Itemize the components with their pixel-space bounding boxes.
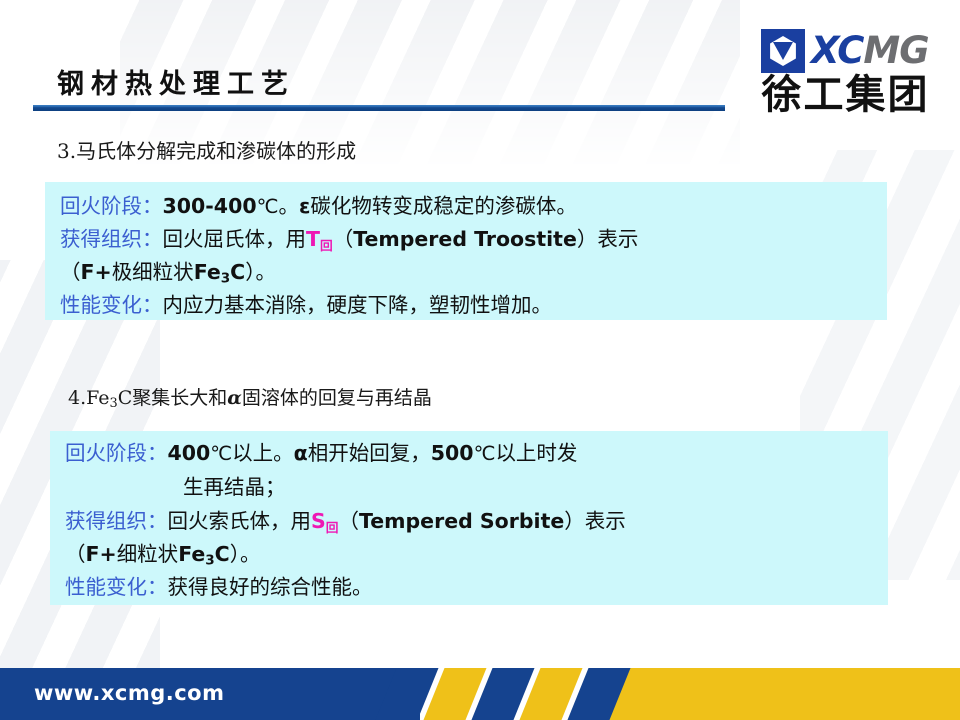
box2-paren-open: （ <box>338 509 359 533</box>
box1-line2-tail: 表示 <box>597 227 638 251</box>
box1-label-property: 性能变化： <box>60 293 163 317</box>
box1-comp-paren-open: （ <box>60 260 81 284</box>
section-3-text: 马氏体分解完成和渗碳体的形成 <box>76 139 356 163</box>
section-4-fe: Fe <box>86 387 109 409</box>
section-4-tail: 固溶体的回复与再结晶 <box>242 387 432 409</box>
box2-temp-unit-2: ℃ <box>474 442 496 465</box>
box2-comp-mid: 细粒状 <box>117 542 179 566</box>
box2-line-property-change: 性能变化：获得良好的综合性能。 <box>65 577 373 598</box>
section-4-alpha: α <box>227 387 242 409</box>
box2-english-term: Tempered Sorbite <box>359 509 564 533</box>
box1-line-obtained-structure: 获得组织：回火屈氏体，用T回（Tempered Troostite）表示 <box>60 229 638 256</box>
page-title: 钢材热处理工艺 <box>57 62 295 101</box>
box1-label-structure: 获得组织： <box>60 227 163 251</box>
box2-line1-text2: 相开始回复， <box>308 441 431 465</box>
content-box-stage-4: 回火阶段：400℃以上。α相开始回复，500℃以上时发 生再结晶； 获得组织：回… <box>50 431 888 605</box>
xcmg-hexagon-mark-icon <box>761 29 805 73</box>
box2-paren-close: ） <box>564 509 585 533</box>
box2-line-composition: （F+细粒状Fe3C）。 <box>65 544 260 571</box>
box2-line1-text1: 以上。 <box>232 441 294 465</box>
box2-line-tempering-stage: 回火阶段：400℃以上。α相开始回复，500℃以上时发 <box>65 443 577 465</box>
box2-property-text: 获得良好的综合性能。 <box>168 575 373 599</box>
box1-epsilon-symbol: ε <box>299 194 310 218</box>
logo-wordmark: XCMG <box>811 31 929 71</box>
box2-comp-c: C <box>215 542 230 566</box>
box1-comp-c: C <box>230 260 245 284</box>
box1-structure-text: 回火屈氏体，用 <box>163 227 307 251</box>
box2-comp-paren-open: （ <box>65 542 86 566</box>
box1-paren-open: （ <box>333 227 354 251</box>
box1-line-composition: （F+极细粒状Fe3C）。 <box>60 262 276 289</box>
logo-wordmark-xc: XC <box>811 29 863 72</box>
box1-line1-tail: 碳化物转变成稳定的渗碳体。 <box>310 194 577 218</box>
box2-label-stage: 回火阶段： <box>65 441 168 465</box>
section-4-number: 4. <box>68 387 86 409</box>
logo-chinese-name: 徐工集团 <box>743 72 948 118</box>
box1-comp-mid: 极细粒状 <box>112 260 194 284</box>
box1-property-text: 内应力基本消除，硬度下降，塑韧性增加。 <box>163 293 553 317</box>
xcmg-logo: XCMG 徐工集团 <box>743 28 948 120</box>
box2-comp-paren-close: ）。 <box>230 542 261 566</box>
box1-label-stage: 回火阶段： <box>60 194 163 218</box>
box2-temp-value: 400 <box>168 441 211 465</box>
footer-website-url[interactable]: www.xcmg.com <box>34 681 224 705</box>
box1-symbol-T: T <box>306 227 320 251</box>
slide-canvas: 钢材热处理工艺 XCMG 徐工集团 3.马氏体分解完成和渗碳体的形成 回火阶段：… <box>0 0 960 720</box>
logo-primary-row: XCMG <box>761 28 929 74</box>
box1-english-term: Tempered Troostite <box>353 227 577 251</box>
box2-comp-fe-subscript: 3 <box>205 552 214 568</box>
box2-temp-value-2: 500 <box>431 441 474 465</box>
box1-symbol-T-subscript: 回 <box>320 238 333 253</box>
box2-line-obtained-structure: 获得组织：回火索氏体，用S回（Tempered Sorbite）表示 <box>65 511 626 538</box>
section-3-heading: 3.马氏体分解完成和渗碳体的形成 <box>57 135 356 164</box>
box2-symbol-S-subscript: 回 <box>326 520 339 535</box>
box2-label-property: 性能变化： <box>65 575 168 599</box>
box1-line1-period: 。 <box>278 194 299 218</box>
box1-comp-fe-subscript: 3 <box>221 270 230 286</box>
box1-line-tempering-stage: 回火阶段：300-400℃。ε碳化物转变成稳定的渗碳体。 <box>60 196 577 218</box>
box2-alpha-symbol: α <box>294 441 308 465</box>
box2-line1-text3: 以上时发 <box>495 441 577 465</box>
box2-comp-f-plus: F+ <box>86 542 117 566</box>
slide-footer: www.xcmg.com <box>0 668 960 720</box>
title-underline-rule <box>33 105 725 111</box>
box1-temp-unit: ℃ <box>257 195 279 218</box>
section-3-number: 3. <box>57 139 76 163</box>
box1-paren-close: ） <box>577 227 598 251</box>
content-box-stage-3: 回火阶段：300-400℃。ε碳化物转变成稳定的渗碳体。 获得组织：回火屈氏体，… <box>45 182 887 320</box>
box2-symbol-S: S <box>311 509 326 533</box>
box2-line3-tail: 表示 <box>585 509 626 533</box>
logo-wordmark-mg: MG <box>863 29 928 72</box>
section-4-heading: 4.Fe3C聚集长大和α固溶体的回复与再结晶 <box>68 383 432 411</box>
box2-structure-text: 回火索氏体，用 <box>168 509 312 533</box>
section-4-fe-subscript: 3 <box>110 396 118 411</box>
box1-comp-paren-close: ）。 <box>245 260 276 284</box>
box1-comp-fe: Fe <box>194 260 221 284</box>
box1-line-property-change: 性能变化：内应力基本消除，硬度下降，塑韧性增加。 <box>60 295 552 316</box>
box2-label-structure: 获得组织： <box>65 509 168 533</box>
section-4-mid: C聚集长大和 <box>118 387 228 409</box>
box1-comp-f-plus: F+ <box>81 260 112 284</box>
box2-line-continuation: 生再结晶； <box>183 477 286 498</box>
box2-comp-fe: Fe <box>178 542 205 566</box>
box1-temp-range: 300-400 <box>163 194 257 218</box>
box2-temp-unit: ℃ <box>210 442 232 465</box>
